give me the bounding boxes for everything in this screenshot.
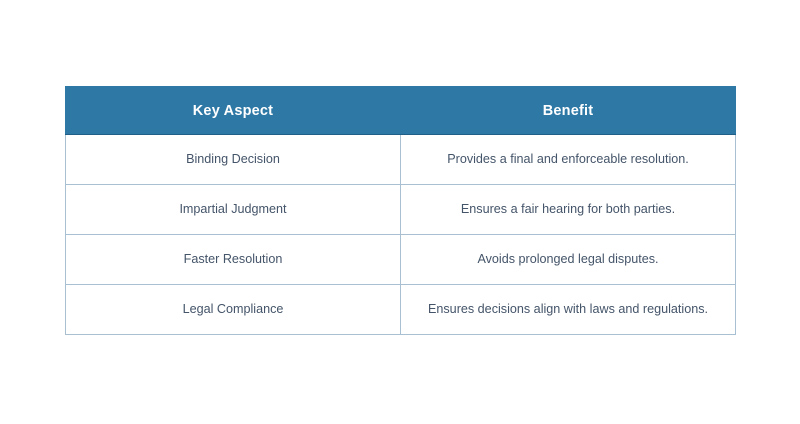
- page-canvas: Key Aspect Benefit Binding Decision Prov…: [0, 0, 800, 424]
- key-aspect-benefit-table: Key Aspect Benefit Binding Decision Prov…: [65, 86, 736, 335]
- table-row: Legal Compliance Ensures decisions align…: [66, 285, 736, 335]
- cell-key-aspect: Legal Compliance: [66, 285, 401, 335]
- cell-benefit: Avoids prolonged legal disputes.: [401, 235, 736, 285]
- table-body: Binding Decision Provides a final and en…: [66, 135, 736, 335]
- cell-key-aspect: Impartial Judgment: [66, 185, 401, 235]
- cell-key-aspect: Faster Resolution: [66, 235, 401, 285]
- table-row: Faster Resolution Avoids prolonged legal…: [66, 235, 736, 285]
- column-header-key-aspect: Key Aspect: [66, 87, 401, 135]
- cell-benefit: Provides a final and enforceable resolut…: [401, 135, 736, 185]
- cell-key-aspect: Binding Decision: [66, 135, 401, 185]
- table-row: Binding Decision Provides a final and en…: [66, 135, 736, 185]
- table-row: Impartial Judgment Ensures a fair hearin…: [66, 185, 736, 235]
- cell-benefit: Ensures decisions align with laws and re…: [401, 285, 736, 335]
- column-header-benefit: Benefit: [401, 87, 736, 135]
- cell-benefit: Ensures a fair hearing for both parties.: [401, 185, 736, 235]
- table-header: Key Aspect Benefit: [66, 87, 736, 135]
- table-header-row: Key Aspect Benefit: [66, 87, 736, 135]
